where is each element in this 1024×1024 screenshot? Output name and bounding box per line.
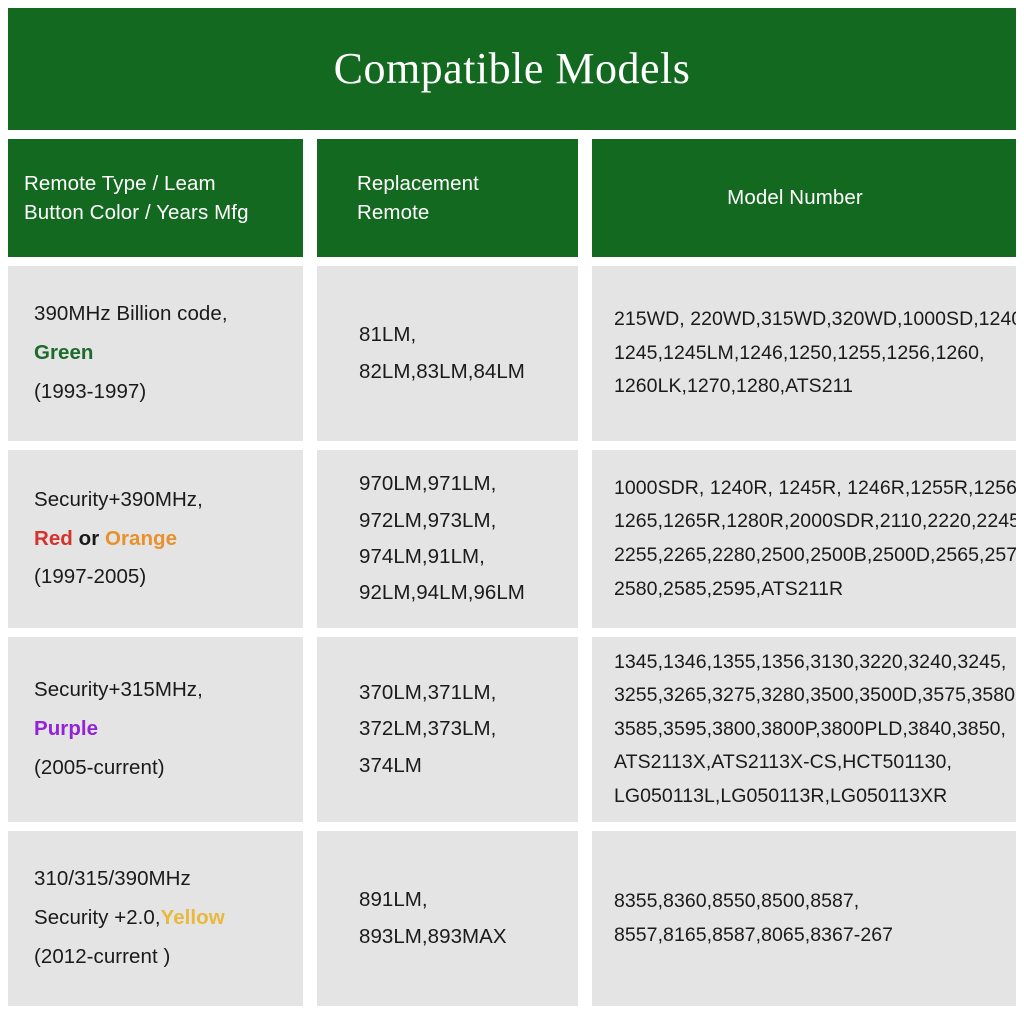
- header-remote-type-line2: Button Color / Years Mfg: [24, 198, 249, 227]
- row-3-models-line4: ATS2113X,ATS2113X-CS,HCT501130,: [614, 746, 996, 780]
- row-2-models-line2: 1265,1265R,1280R,2000SDR,2110,2220,2245,: [614, 505, 996, 539]
- row-4-models-line2: 8557,8165,8587,8065,8367-267: [614, 919, 996, 953]
- row-3-models-cell: 1345,1346,1355,1356,3130,3220,3240,3245,…: [592, 637, 1016, 822]
- row-2-models-cell: 1000SDR, 1240R, 1245R, 1246R,1255R,1256R…: [592, 450, 1016, 628]
- row-4-replacement-line1: 891LM,: [359, 882, 558, 918]
- banner: Compatible Models: [8, 8, 1016, 130]
- row-4-years: (2012-current ): [34, 938, 283, 977]
- row-1-models-line1: 215WD, 220WD,315WD,320WD,1000SD,1240,: [614, 303, 996, 337]
- table-row: Security+315MHz, Purple (2005-current) 3…: [8, 637, 1016, 822]
- row-3-type-desc: Security+315MHz,: [34, 671, 283, 710]
- page-title: Compatible Models: [334, 47, 691, 91]
- row-1-replacement-cell: 81LM, 82LM,83LM,84LM: [317, 266, 578, 441]
- row-1-replacement-line1: 81LM,: [359, 317, 558, 353]
- row-3-replacement-line2: 372LM,373LM,: [359, 711, 558, 747]
- header-remote-type-line1: Remote Type / Leam: [24, 169, 249, 198]
- row-1-models-line2: 1245,1245LM,1246,1250,1255,1256,1260,: [614, 337, 996, 371]
- header-cell-replacement-remote: Replacement Remote: [317, 139, 578, 257]
- row-2-replacement-line3: 974LM,91LM,: [359, 539, 558, 575]
- row-4-models-line1: 8355,8360,8550,8500,8587,: [614, 885, 996, 919]
- row-2-years: (1997-2005): [34, 558, 283, 597]
- compatibility-chart: Compatible Models Remote Type / Leam But…: [0, 0, 1024, 1024]
- row-4-models-cell: 8355,8360,8550,8500,8587, 8557,8165,8587…: [592, 831, 1016, 1006]
- row-1-type-desc: 390MHz Billion code,: [34, 295, 283, 334]
- row-1-models-line3: 1260LK,1270,1280,ATS211: [614, 370, 996, 404]
- row-3-models-line5: LG050113L,LG050113R,LG050113XR: [614, 780, 996, 814]
- row-2-learn-button-color-1: Red: [34, 527, 73, 550]
- row-1-replacement-line2: 82LM,83LM,84LM: [359, 354, 558, 390]
- row-3-models-line2: 3255,3265,3275,3280,3500,3500D,3575,3580…: [614, 679, 996, 713]
- header-replacement-line1: Replacement: [357, 169, 479, 198]
- table-row: 310/315/390MHz Security +2.0,Yellow (201…: [8, 831, 1016, 1006]
- row-2-models-line1: 1000SDR, 1240R, 1245R, 1246R,1255R,1256R…: [614, 472, 996, 506]
- row-4-replacement-cell: 891LM, 893LM,893MAX: [317, 831, 578, 1006]
- row-1-learn-button-color: Green: [34, 334, 283, 373]
- row-4-type-cell: 310/315/390MHz Security +2.0,Yellow (201…: [8, 831, 303, 1006]
- header-cell-remote-type: Remote Type / Leam Button Color / Years …: [8, 139, 303, 257]
- row-1-type-cell: 390MHz Billion code, Green (1993-1997): [8, 266, 303, 441]
- row-2-replacement-cell: 970LM,971LM, 972LM,973LM, 974LM,91LM, 92…: [317, 450, 578, 628]
- row-2-replacement-line1: 970LM,971LM,: [359, 466, 558, 502]
- header-replacement-line2: Remote: [357, 198, 479, 227]
- table-header-row: Remote Type / Leam Button Color / Years …: [8, 139, 1016, 257]
- row-3-learn-button-color: Purple: [34, 710, 283, 749]
- row-4-replacement-line2: 893LM,893MAX: [359, 919, 558, 955]
- header-model-number: Model Number: [727, 183, 863, 212]
- row-2-replacement-line4: 92LM,94LM,96LM: [359, 575, 558, 611]
- row-3-replacement-cell: 370LM,371LM, 372LM,373LM, 374LM: [317, 637, 578, 822]
- row-3-replacement-line1: 370LM,371LM,: [359, 675, 558, 711]
- row-2-models-line3: 2255,2265,2280,2500,2500B,2500D,2565,257…: [614, 539, 996, 573]
- row-2-learn-button-color-2: Orange: [105, 527, 177, 550]
- row-2-replacement-line2: 972LM,973LM,: [359, 503, 558, 539]
- header-cell-model-number: Model Number: [592, 139, 1016, 257]
- row-1-years: (1993-1997): [34, 373, 283, 412]
- row-2-type-desc: Security+390MHz,: [34, 481, 283, 520]
- row-1-models-cell: 215WD, 220WD,315WD,320WD,1000SD,1240, 12…: [592, 266, 1016, 441]
- row-2-type-cell: Security+390MHz, Red or Orange (1997-200…: [8, 450, 303, 628]
- table-row: 390MHz Billion code, Green (1993-1997) 8…: [8, 266, 1016, 441]
- row-4-type-desc-line2: Security +2.0,: [34, 906, 161, 929]
- row-2-models-line4: 2580,2585,2595,ATS211R: [614, 573, 996, 607]
- compatibility-table: Remote Type / Leam Button Color / Years …: [8, 130, 1016, 1012]
- row-4-learn-button-color: Yellow: [161, 906, 225, 929]
- row-2-conjunction: or: [79, 527, 100, 550]
- table-row: Security+390MHz, Red or Orange (1997-200…: [8, 450, 1016, 628]
- row-3-replacement-line3: 374LM: [359, 748, 558, 784]
- row-4-type-desc: 310/315/390MHz: [34, 860, 283, 899]
- row-3-type-cell: Security+315MHz, Purple (2005-current): [8, 637, 303, 822]
- row-3-models-line3: 3585,3595,3800,3800P,3800PLD,3840,3850,: [614, 713, 996, 747]
- row-3-models-line1: 1345,1346,1355,1356,3130,3220,3240,3245,: [614, 646, 996, 680]
- row-3-years: (2005-current): [34, 749, 283, 788]
